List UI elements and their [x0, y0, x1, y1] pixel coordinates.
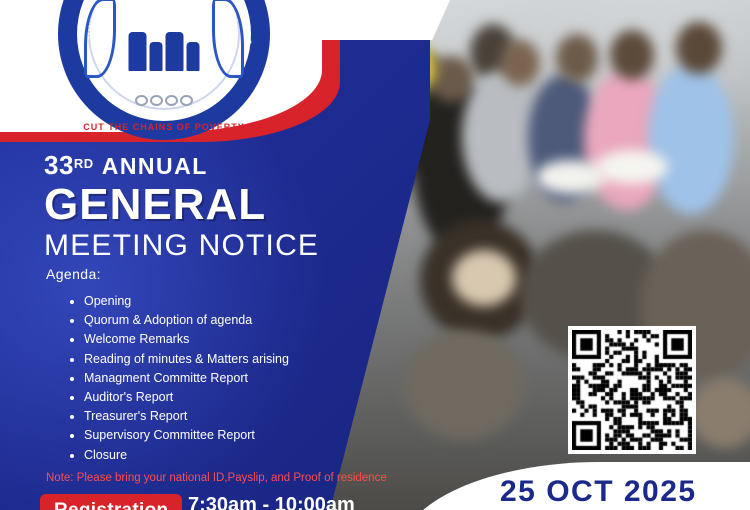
agenda-item: Welcome Remarks — [84, 330, 289, 349]
qr-code[interactable] — [568, 326, 696, 454]
registration-time: 7:30am - 10:00am — [188, 494, 355, 510]
headline-meeting-notice: MEETING NOTICE — [44, 229, 364, 262]
broken-chain-icon — [135, 95, 193, 106]
family-icon — [129, 32, 200, 71]
agenda-item: Closure — [84, 446, 289, 465]
headline-annual: ANNUAL — [102, 153, 208, 179]
requirements-note: Note: Please bring your national ID,Pays… — [46, 472, 387, 484]
headline-block: 33RDANNUAL GENERAL MEETING NOTICE — [44, 152, 364, 262]
agenda-item: Treasurer's Report — [84, 407, 289, 426]
headline-ordinal-row: 33RDANNUAL — [44, 152, 364, 180]
agenda-list: OpeningQuorum & Adoption of agendaWelcom… — [62, 292, 289, 465]
agenda-item: Auditor's Report — [84, 388, 289, 407]
event-date: 25 OCT 2025 — [500, 475, 697, 509]
agenda-item: Quorum & Adoption of agenda — [84, 311, 289, 330]
agenda-item: Supervisory Committee Report — [84, 426, 289, 445]
agenda-item: Managment Committe Report — [84, 369, 289, 388]
logo-bottom-text: CUT THE CHAINS OF POVERTY — [58, 122, 270, 132]
headline-general: GENERAL — [44, 182, 364, 228]
headline-ordinal-number: 33 — [44, 152, 74, 178]
registration-label: Registration — [40, 494, 182, 510]
headline-ordinal-suffix: RD — [74, 157, 94, 170]
agenda-label: Agenda: — [46, 266, 101, 282]
agenda-item: Reading of minutes & Matters arising — [84, 350, 289, 369]
cooperative-logo: SIBONOKUHLE CO-OP SOCIETY LTD SIBONOKUHL… — [58, 0, 270, 140]
poster: SIBONOKUHLE CO-OP SOCIETY LTD SIBONOKUHL… — [0, 0, 750, 510]
agenda-item: Opening — [84, 292, 289, 311]
